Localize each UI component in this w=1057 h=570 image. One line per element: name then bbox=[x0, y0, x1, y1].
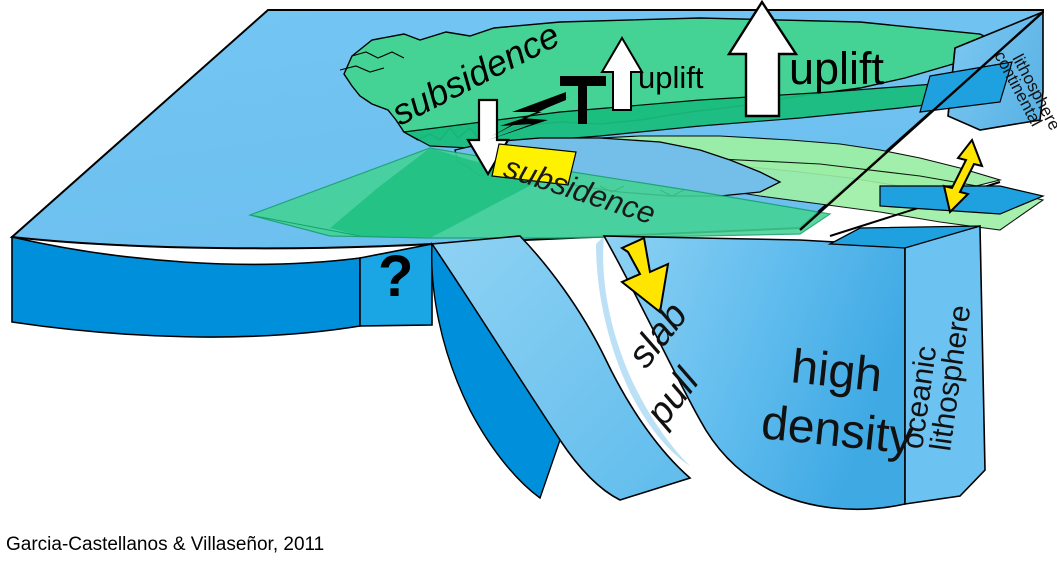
left-plate-front-face bbox=[12, 237, 360, 337]
label-uplift-small: uplift bbox=[638, 60, 704, 95]
subduction-block-diagram: subsidence subsidence uplift uplift slab… bbox=[0, 0, 1057, 570]
label-question-mark: ? bbox=[378, 244, 413, 309]
figure-caption: Garcia-Castellanos & Villaseñor, 2011 bbox=[6, 534, 324, 556]
figure-container: subsidence subsidence uplift uplift slab… bbox=[0, 0, 1057, 570]
label-uplift-large: uplift bbox=[789, 43, 885, 94]
label-high: high bbox=[789, 340, 885, 402]
